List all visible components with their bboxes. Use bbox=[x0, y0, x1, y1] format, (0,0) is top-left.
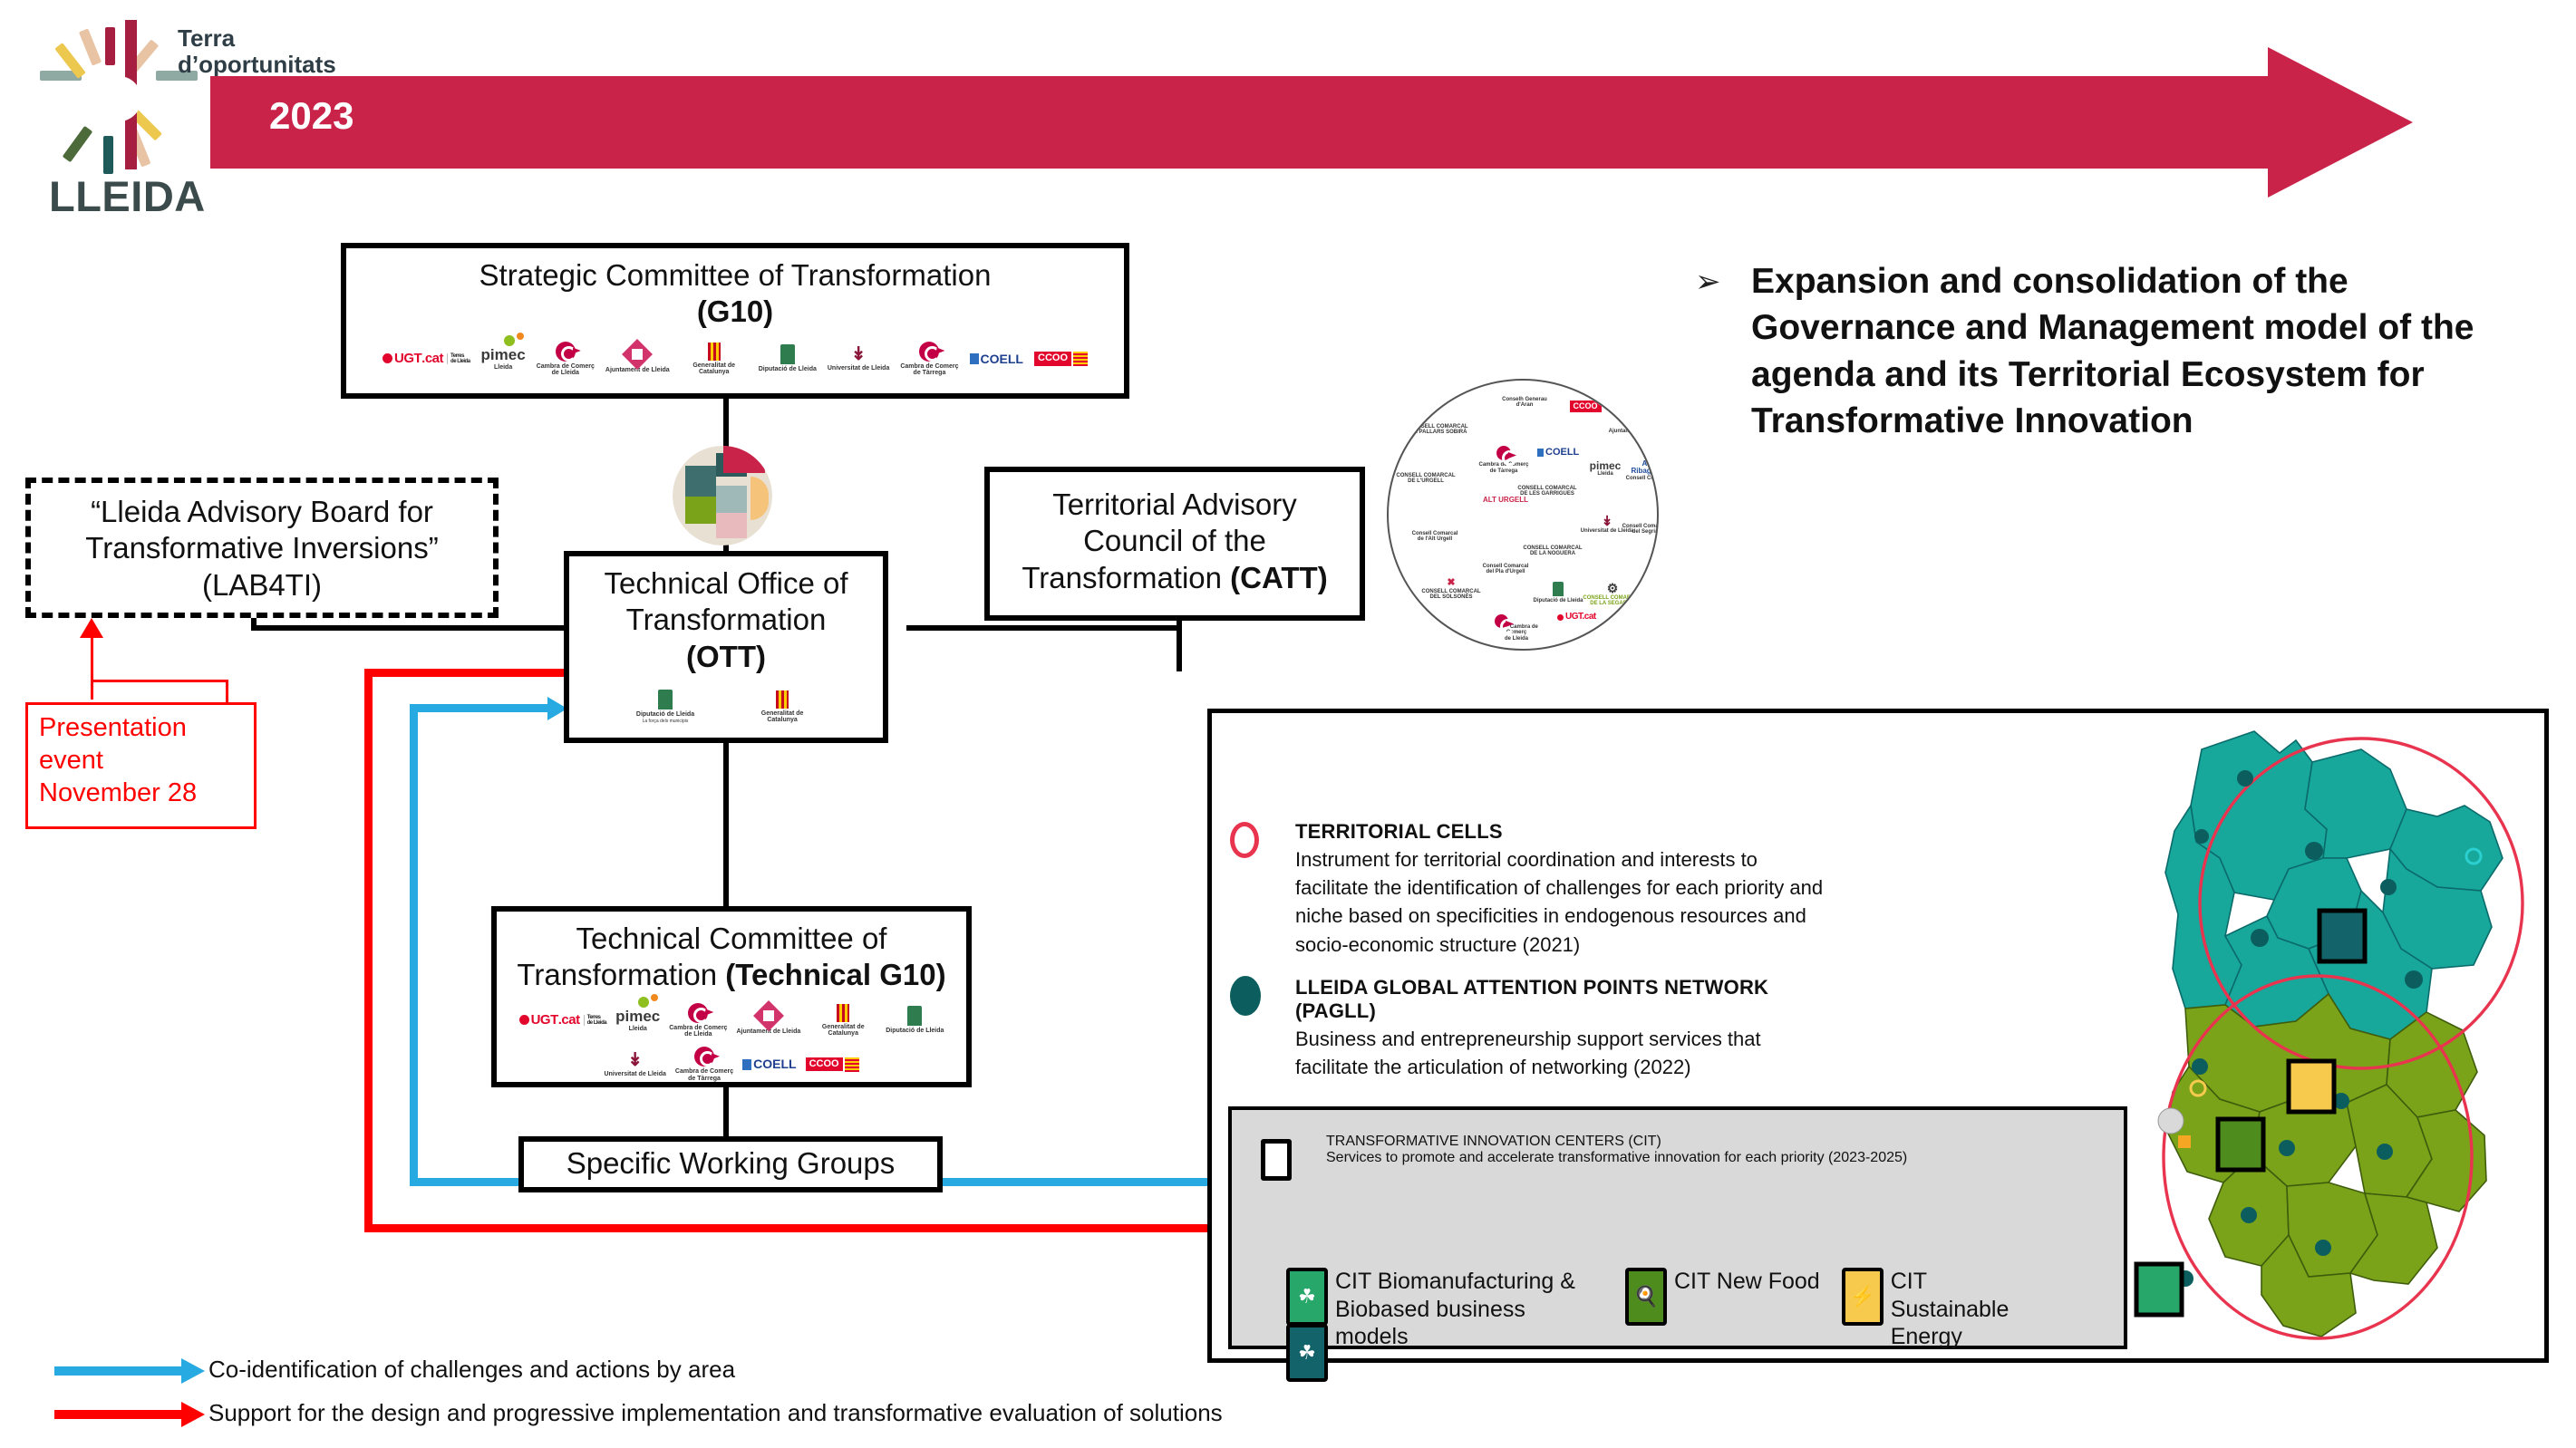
logo-generalitat: Generalitat de Catalunya bbox=[749, 690, 816, 724]
cluster-member: CONSELL COMARCALDE LA NOGUERA bbox=[1521, 545, 1584, 557]
ott-title: Technical Office of Transformation (OTT) bbox=[569, 556, 883, 675]
sunburst-icon bbox=[51, 31, 187, 167]
cluster-member: CONSELL COMARCALDE PALLARS SOBIRÀ bbox=[1407, 424, 1470, 436]
logo-generalitat: Generalitat de Catalunya bbox=[681, 343, 748, 376]
cluster-member: CONSELL COMARCALDE L'URGELL bbox=[1394, 473, 1457, 485]
lab4ti-title: “Lleida Advisory Board for Transformativ… bbox=[31, 483, 493, 603]
techg10-line2-plain: Transformation bbox=[517, 958, 725, 991]
cit-title: TRANSFORMATIVE INNOVATION CENTERS (CIT) bbox=[1326, 1134, 2106, 1150]
presentation-arrow-riser bbox=[226, 680, 228, 703]
logo-ugt: UGT.catTerresde Lleida bbox=[519, 1013, 607, 1028]
territorial-instruments-panel: TERRITORIAL CELLS Instrument for territo… bbox=[1207, 709, 2549, 1363]
cluster-member: LA PAERIAAjuntament de Lleida bbox=[1604, 408, 1659, 434]
catt-line2: Council of the bbox=[1002, 523, 1347, 559]
logo-generalitat: Generalitat de Catalunya bbox=[809, 1004, 876, 1038]
map-small-marker bbox=[2178, 1135, 2191, 1148]
catt-title: Territorial Advisory Council of the Tran… bbox=[990, 472, 1360, 596]
g10-title-line1: Strategic Committee of Transformation bbox=[359, 257, 1111, 294]
banner-year-label: 2023 bbox=[269, 94, 353, 138]
logo-cambra-lleida: Cambra de Comerçde Lleida bbox=[537, 342, 595, 377]
lab4ti-line3: (LAB4TI) bbox=[44, 567, 480, 603]
red-legend-label: Support for the design and progressive i… bbox=[208, 1399, 1223, 1427]
red-route-bottom bbox=[364, 1224, 1218, 1232]
cluster-member: ⚙CONSELL COMARCALDE LA SEGARRA bbox=[1581, 582, 1644, 606]
cit-new-food-label: CIT New Food bbox=[1674, 1268, 1820, 1296]
cit-marker-icon bbox=[1261, 1139, 1292, 1181]
presentation-line3: November 28 bbox=[39, 777, 243, 810]
map-north-region bbox=[2165, 731, 2503, 1039]
logo-ajuntament-lleida: Ajuntament de Lleida bbox=[605, 343, 670, 373]
logo-ajuntament-lleida: Ajuntament de Lleida bbox=[736, 1005, 800, 1035]
cit-biomanufacturing-icon: ☘ bbox=[1286, 1268, 1328, 1326]
ott-line2: Transformation bbox=[582, 602, 870, 638]
red-arrow-head-icon bbox=[181, 1402, 205, 1427]
ott-line3: (OTT) bbox=[582, 639, 870, 675]
presentation-arrow-stem bbox=[91, 634, 93, 700]
lleida-province-map[interactable] bbox=[2118, 722, 2544, 1356]
legend-cit-box: TRANSFORMATIVE INNOVATION CENTERS (CIT) … bbox=[1228, 1106, 2127, 1349]
territorial-advisory-council-box[interactable]: Territorial Advisory Council of the Tran… bbox=[984, 467, 1365, 621]
strategic-committee-box[interactable]: Strategic Committee of Transformation (G… bbox=[341, 243, 1129, 399]
cluster-member: COELL bbox=[1537, 448, 1601, 459]
catt-line3-bold: (CATT) bbox=[1230, 561, 1328, 594]
red-arrow-shaft-icon bbox=[54, 1410, 189, 1419]
specific-working-groups-box[interactable]: Specific Working Groups bbox=[518, 1136, 943, 1192]
territorial-cells-title: TERRITORIAL CELLS bbox=[1295, 820, 1828, 844]
headline-text: Expansion and consolidation of the Gover… bbox=[1751, 258, 2511, 445]
cluster-member: ALT URGELL bbox=[1474, 497, 1537, 504]
catt-line3-plain: Transformation bbox=[1022, 561, 1230, 594]
logo-diputacio: Diputació de LleidaLa força dels municip… bbox=[636, 690, 694, 725]
headline-bullet: ➢ Expansion and consolidation of the Gov… bbox=[1695, 258, 2511, 445]
cluster-member: Consell Comarcaldel Segrià bbox=[1613, 524, 1659, 536]
map-cit-new-food bbox=[2218, 1119, 2263, 1170]
g10-logo-strip: UGT.catTerresde Lleida pimecLleida Cambr… bbox=[346, 336, 1124, 382]
cit-sustainable-energy-icon: ⚡ bbox=[1842, 1268, 1884, 1326]
map-pie-marker bbox=[2158, 1108, 2184, 1134]
territorial-members-cluster: Conselh Generaud'Aran CCOO LA PAERIAAjun… bbox=[1387, 379, 1659, 651]
cluster-member: Cambra de Comerçde Lleida bbox=[1485, 614, 1548, 642]
logo-cambra-targa: Cambra de Comerçde Tàrrega bbox=[675, 1047, 733, 1082]
cit-new-food-icon: 🍳 bbox=[1625, 1268, 1667, 1326]
lab4ti-line2: Transformative Inversions” bbox=[44, 530, 480, 566]
logo-udl: ↡Universitat de Lleida bbox=[604, 1051, 665, 1077]
brand-name: LLEIDA bbox=[49, 171, 206, 221]
cit-sustainable-energy-label: CIT Sustainable Energy bbox=[1891, 1268, 2027, 1351]
blue-legend-label: Co-identification of challenges and acti… bbox=[208, 1356, 735, 1384]
pagll-title: LLEIDA GLOBAL ATTENTION POINTS NETWORK (… bbox=[1295, 976, 1828, 1023]
cit-body: Services to promote and accelerate trans… bbox=[1326, 1150, 2106, 1166]
blue-arrow-shaft-icon bbox=[54, 1366, 189, 1376]
banner-bar bbox=[210, 76, 2322, 169]
technical-committee-box[interactable]: Technical Committee of Transformation (T… bbox=[491, 906, 972, 1087]
ott-logo-strip: Diputació de LleidaLa força dels municip… bbox=[569, 684, 883, 730]
logo-ccoo: CCOO bbox=[1034, 352, 1088, 366]
legend-row-red: Support for the design and progressive i… bbox=[36, 1395, 1577, 1439]
red-route-left bbox=[364, 669, 373, 1232]
logo-cambra-targa: Cambra de Comerçde Tàrrega bbox=[900, 342, 958, 377]
logo-diputacio: Diputació de Lleida bbox=[759, 344, 817, 372]
presentation-line2: event bbox=[39, 745, 243, 777]
legend-row-blue: Co-identification of challenges and acti… bbox=[36, 1352, 1577, 1395]
legend-pagll: LLEIDA GLOBAL ATTENTION POINTS NETWORK (… bbox=[1230, 976, 1828, 1081]
logo-coell: COELL bbox=[970, 352, 1023, 366]
connector-catt-to-ott bbox=[906, 625, 1182, 631]
presentation-arrowhead-icon bbox=[80, 618, 103, 638]
connector-lab4ti-to-ott bbox=[251, 625, 586, 631]
logo-coell: COELL bbox=[742, 1057, 796, 1071]
pagll-marker-icon bbox=[1230, 976, 1261, 1016]
cit-biomanufacturing-label: CIT Biomanufacturing & Biobased business… bbox=[1335, 1268, 1598, 1351]
lab4ti-box[interactable]: “Lleida Advisory Board for Transformativ… bbox=[25, 478, 499, 618]
connector-techg10-to-wg bbox=[723, 1087, 729, 1136]
techg10-line1: Technical Committee of bbox=[509, 921, 954, 957]
catt-line1: Territorial Advisory bbox=[1002, 487, 1347, 523]
technical-office-box[interactable]: Technical Office of Transformation (OTT)… bbox=[564, 551, 888, 743]
presentation-line1: Presentation bbox=[39, 712, 243, 745]
logo-udl: ↡Universitat de Lleida bbox=[828, 345, 889, 372]
brand-tagline-line1: Terra bbox=[178, 25, 359, 52]
connector-ott-to-techg10 bbox=[723, 743, 729, 906]
brand-tagline: Terra d’oportunitats bbox=[178, 25, 359, 78]
presentation-event-callout[interactable]: Presentation event November 28 bbox=[25, 702, 257, 829]
blue-route-top bbox=[410, 704, 557, 712]
logo-pimec: pimecLleida bbox=[481, 347, 526, 371]
legend-territorial-cells: TERRITORIAL CELLS Instrument for territo… bbox=[1230, 820, 1828, 959]
catt-line3: Transformation (CATT) bbox=[1002, 560, 1347, 596]
cluster-member: AltaRibagorçaConsell Comarcal bbox=[1617, 460, 1659, 481]
logo-pimec: pimecLleida bbox=[615, 1009, 660, 1032]
g10-title-line2: (G10) bbox=[359, 294, 1111, 330]
cluster-member: Consell Comarcaldel Pla d'Urgell bbox=[1474, 564, 1537, 575]
pagll-body: Business and entrepreneurship support se… bbox=[1295, 1025, 1828, 1081]
year-banner-arrow: 2023 bbox=[210, 76, 2413, 169]
territorial-cells-marker-icon bbox=[1230, 822, 1259, 858]
chevron-bullet-icon: ➢ bbox=[1695, 264, 1721, 300]
logo-ugt: UGT.catTerresde Lleida bbox=[383, 352, 470, 366]
map-cit-biobased bbox=[2319, 911, 2365, 961]
ott-line1: Technical Office of bbox=[582, 565, 870, 602]
techg10-line2-bold: (Technical G10) bbox=[725, 958, 945, 991]
g10-title: Strategic Committee of Transformation (G… bbox=[346, 248, 1124, 331]
banner-arrowhead-icon bbox=[2268, 47, 2413, 198]
arrow-legend: Co-identification of challenges and acti… bbox=[36, 1352, 1577, 1439]
cluster-member: Conselh Generaud'Aran bbox=[1493, 397, 1556, 409]
map-svg bbox=[2118, 722, 2544, 1356]
transformation-mark-icon bbox=[673, 446, 772, 545]
cit-item[interactable]: ⚡ CIT Sustainable Energy bbox=[1842, 1268, 2027, 1351]
map-cit-sustainable-energy bbox=[2289, 1061, 2334, 1112]
logo-cambra-lleida: Cambra de Comerçde Lleida bbox=[669, 1003, 727, 1038]
cluster-member: Cambra de Comerçde Tàrrega bbox=[1472, 446, 1535, 474]
map-cit-biomanufacturing bbox=[2136, 1264, 2182, 1315]
logo-ccoo: CCOO bbox=[806, 1057, 859, 1072]
territorial-cells-body: Instrument for territorial coordination … bbox=[1295, 845, 1828, 959]
cit-item[interactable]: 🍳 CIT New Food bbox=[1625, 1268, 1820, 1326]
presentation-arrow-leg bbox=[91, 680, 228, 682]
blue-arrow-head-icon bbox=[181, 1358, 205, 1384]
working-groups-label: Specific Working Groups bbox=[524, 1142, 937, 1182]
cluster-member: UGT.cat bbox=[1557, 613, 1621, 623]
techg10-line2: Transformation (Technical G10) bbox=[509, 957, 954, 993]
lab4ti-line1: “Lleida Advisory Board for bbox=[44, 494, 480, 530]
blue-route-left bbox=[410, 704, 418, 1186]
techg10-title: Technical Committee of Transformation (T… bbox=[497, 912, 966, 994]
cluster-member: ✖CONSELL COMARCALDEL SOLSONÈS bbox=[1419, 578, 1483, 600]
cluster-member: Consell Comarcalde l'Alt Urgell bbox=[1403, 531, 1467, 543]
techg10-logo-strip: UGT.catTerresde Lleida pimecLleida Cambr… bbox=[497, 998, 966, 1087]
brand-tagline-line2: d’oportunitats bbox=[178, 52, 359, 78]
logo-diputacio: Diputació de Lleida bbox=[886, 1006, 944, 1034]
